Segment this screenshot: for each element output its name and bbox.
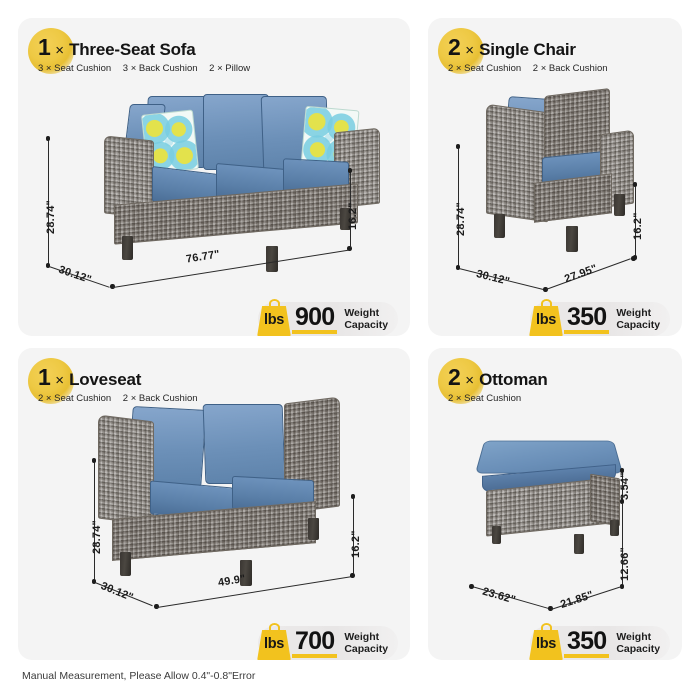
chair-leg-front-left [494, 214, 505, 238]
sofa-back-cushion-2 [203, 94, 269, 170]
chair-component-1: 2 × Seat Cushion [448, 63, 521, 74]
chair-times-symbol: × [465, 43, 474, 58]
ottoman-component-1: 2 × Seat Cushion [448, 393, 521, 404]
ottoman-width-label: 23.62" [481, 586, 517, 607]
ottoman-base-side [590, 474, 620, 527]
panel-three-seat-sofa: 1 × Three-Seat Sofa 3 × Seat Cushion 3 ×… [18, 18, 410, 336]
loveseat-weight-badge: lbs 700 Weight Capacity [258, 626, 398, 660]
chair-seat-height-label: 16.2" [632, 212, 644, 240]
weight-icon: lbs [528, 623, 564, 660]
sofa-badge-caption: Weight Capacity [344, 307, 388, 332]
sofa-leg-front-left [122, 236, 133, 260]
sofa-leg-front-center [266, 246, 278, 272]
panel-loveseat: 1 × Loveseat 2 × Seat Cushion 2 × Back C… [18, 348, 410, 660]
sofa-seat-height-label: 16.2" [347, 202, 359, 230]
chair-header: 2 × Single Chair 2 × Seat Cushion 2 × Ba… [448, 36, 617, 74]
chair-badge-caption: Weight Capacity [616, 307, 660, 332]
loveseat-times-symbol: × [55, 373, 64, 388]
chair-badge-value: 350 [564, 304, 609, 335]
ottoman-leg-front-right [574, 534, 584, 554]
chair-components: 2 × Seat Cushion 2 × Back Cushion [448, 63, 617, 74]
loveseat-quantity: 1 [38, 366, 50, 389]
ottoman-header: 2 × Ottoman 2 × Seat Cushion [448, 366, 548, 404]
sofa-badge-unit: lbs [256, 312, 292, 328]
sofa-component-2: 3 × Back Cushion [123, 63, 198, 74]
ottoman-depth-label: 21.85" [559, 589, 595, 611]
sofa-badge-caption-line1: Weight [344, 307, 388, 319]
chair-leg-back-right [614, 194, 625, 216]
loveseat-back-cushion-2 [203, 404, 286, 484]
ottoman-badge-unit: lbs [528, 636, 564, 652]
ottoman-weight-badge: lbs 350 Weight Capacity [530, 626, 670, 660]
chair-title: Single Chair [479, 41, 576, 58]
sofa-quantity: 1 [38, 36, 50, 59]
ottoman-badge-caption: Weight Capacity [616, 631, 660, 656]
loveseat-leg-front-left [120, 552, 131, 576]
chair-front-base [534, 173, 612, 223]
chair-illustration [468, 96, 648, 261]
sofa-times-symbol: × [55, 43, 64, 58]
ottoman-badge-value: 350 [564, 628, 609, 659]
loveseat-left-arm [98, 415, 154, 526]
product-dimension-infographic: 1 × Three-Seat Sofa 3 × Seat Cushion 3 ×… [0, 0, 700, 700]
loveseat-illustration [88, 406, 348, 586]
ottoman-height-label: 12.66" [619, 547, 631, 581]
loveseat-seat-height-label: 16.2" [350, 530, 362, 558]
ottoman-cushion-thickness-label: 3.54" [619, 472, 631, 500]
ottoman-components: 2 × Seat Cushion [448, 393, 548, 404]
chair-component-2: 2 × Back Cushion [533, 63, 608, 74]
loveseat-components: 2 × Seat Cushion 2 × Back Cushion [38, 393, 207, 404]
sofa-illustration [48, 90, 378, 270]
chair-depth-label: 30.12" [475, 268, 511, 288]
sofa-title: Three-Seat Sofa [69, 41, 195, 58]
ottoman-leg-back-right [610, 520, 619, 536]
loveseat-badge-caption-line2: Capacity [344, 643, 388, 655]
loveseat-badge-caption-line1: Weight [344, 631, 388, 643]
weight-icon: lbs [256, 299, 292, 336]
chair-width-label: 27.95" [563, 263, 599, 286]
loveseat-title: Loveseat [69, 371, 141, 388]
weight-icon: lbs [256, 623, 292, 660]
footer-note: Manual Measurement, Please Allow 0.4"-0.… [22, 670, 255, 682]
panel-ottoman: 2 × Ottoman 2 × Seat Cushion 3.54" [428, 348, 682, 660]
loveseat-badge-caption: Weight Capacity [344, 631, 388, 656]
loveseat-component-1: 2 × Seat Cushion [38, 393, 111, 404]
loveseat-leg-back-right [308, 518, 319, 540]
loveseat-badge-unit: lbs [256, 636, 292, 652]
sofa-badge-caption-line2: Capacity [344, 319, 388, 331]
chair-badge-caption-line1: Weight [616, 307, 660, 319]
ottoman-quantity: 2 [448, 366, 460, 389]
sofa-components: 3 × Seat Cushion 3 × Back Cushion 2 × Pi… [38, 63, 259, 74]
chair-quantity: 2 [448, 36, 460, 59]
loveseat-badge-value: 700 [292, 628, 337, 659]
chair-badge-unit: lbs [528, 312, 564, 328]
panel-single-chair: 2 × Single Chair 2 × Seat Cushion 2 × Ba… [428, 18, 682, 336]
chair-height-label: 28.74" [455, 202, 467, 236]
ottoman-badge-caption-line1: Weight [616, 631, 660, 643]
sofa-badge-value: 900 [292, 304, 337, 335]
chair-badge-caption-line2: Capacity [616, 319, 660, 331]
weight-icon: lbs [528, 299, 564, 336]
chair-leg-front-right [566, 226, 578, 252]
ottoman-illustration [464, 434, 644, 564]
ottoman-times-symbol: × [465, 373, 474, 388]
sofa-height-label: 28.74" [45, 200, 57, 234]
sofa-component-1: 3 × Seat Cushion [38, 63, 111, 74]
chair-weight-badge: lbs 350 Weight Capacity [530, 302, 670, 336]
sofa-weight-badge: lbs 900 Weight Capacity [258, 302, 398, 336]
sofa-component-3: 2 × Pillow [209, 63, 250, 74]
sofa-header: 1 × Three-Seat Sofa 3 × Seat Cushion 3 ×… [38, 36, 259, 74]
ottoman-badge-caption-line2: Capacity [616, 643, 660, 655]
ottoman-title: Ottoman [479, 371, 547, 388]
loveseat-height-label: 28.74" [91, 520, 103, 554]
loveseat-header: 1 × Loveseat 2 × Seat Cushion 2 × Back C… [38, 366, 207, 404]
ottoman-leg-front-left [492, 526, 501, 544]
loveseat-component-2: 2 × Back Cushion [123, 393, 198, 404]
